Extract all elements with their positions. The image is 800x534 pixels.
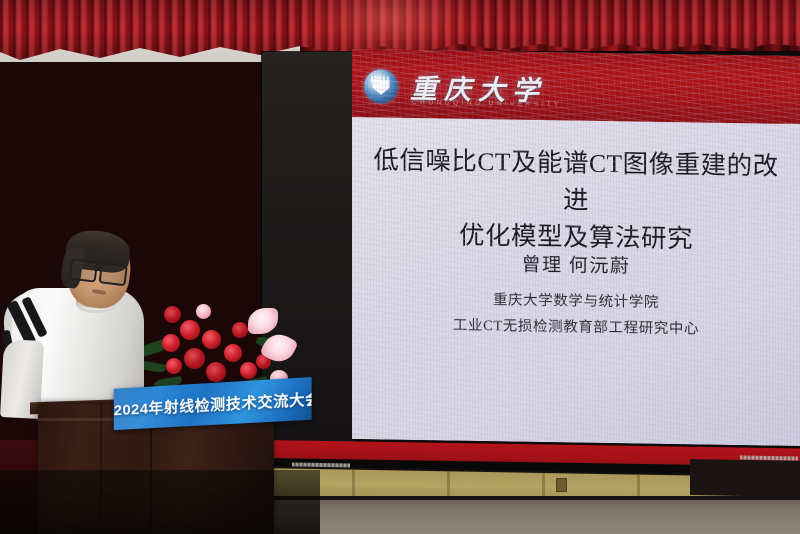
- podium-banner-text: 2024年射线检测技术交流大会: [114, 388, 312, 420]
- wall-socket-icon: [556, 478, 567, 492]
- rose-flower: [166, 358, 182, 374]
- rose-flower: [206, 362, 226, 382]
- wall-dark-panel-right: [690, 459, 800, 497]
- chongqing-university-crest-icon: [364, 69, 398, 104]
- rose-flower: [164, 306, 181, 323]
- rose-flower: [240, 362, 257, 379]
- presentation-slide: 重庆大学 CHONGQING UNIVERSITY 低信噪比CT及能谱CT图像重…: [352, 49, 800, 446]
- rose-flower: [184, 348, 205, 369]
- eyeglass-lens-left: [69, 259, 98, 283]
- rose-flower: [162, 334, 180, 352]
- rose-flower: [232, 322, 248, 338]
- presentation-photo-scene: 重庆大学 CHONGQING UNIVERSITY 低信噪比CT及能谱CT图像重…: [0, 0, 800, 534]
- slide-affiliation: 重庆大学数学与统计学院 工业CT无损检测教育部工程研究中心: [370, 285, 782, 343]
- led-display-screen: 重庆大学 CHONGQING UNIVERSITY 低信噪比CT及能谱CT图像重…: [262, 52, 800, 464]
- rose-flower: [224, 344, 242, 362]
- stage-foreground-shadow: [0, 470, 320, 534]
- slide-title-line1: 低信噪比CT及能谱CT图像重建的改进: [370, 141, 782, 221]
- rose-flower: [202, 330, 221, 349]
- rose-flower: [180, 320, 200, 340]
- pink-flower: [196, 304, 211, 319]
- slide-title: 低信噪比CT及能谱CT图像重建的改进 优化模型及算法研究: [370, 141, 782, 258]
- eyeglass-lens-right: [99, 262, 128, 286]
- lily-flower: [248, 308, 278, 334]
